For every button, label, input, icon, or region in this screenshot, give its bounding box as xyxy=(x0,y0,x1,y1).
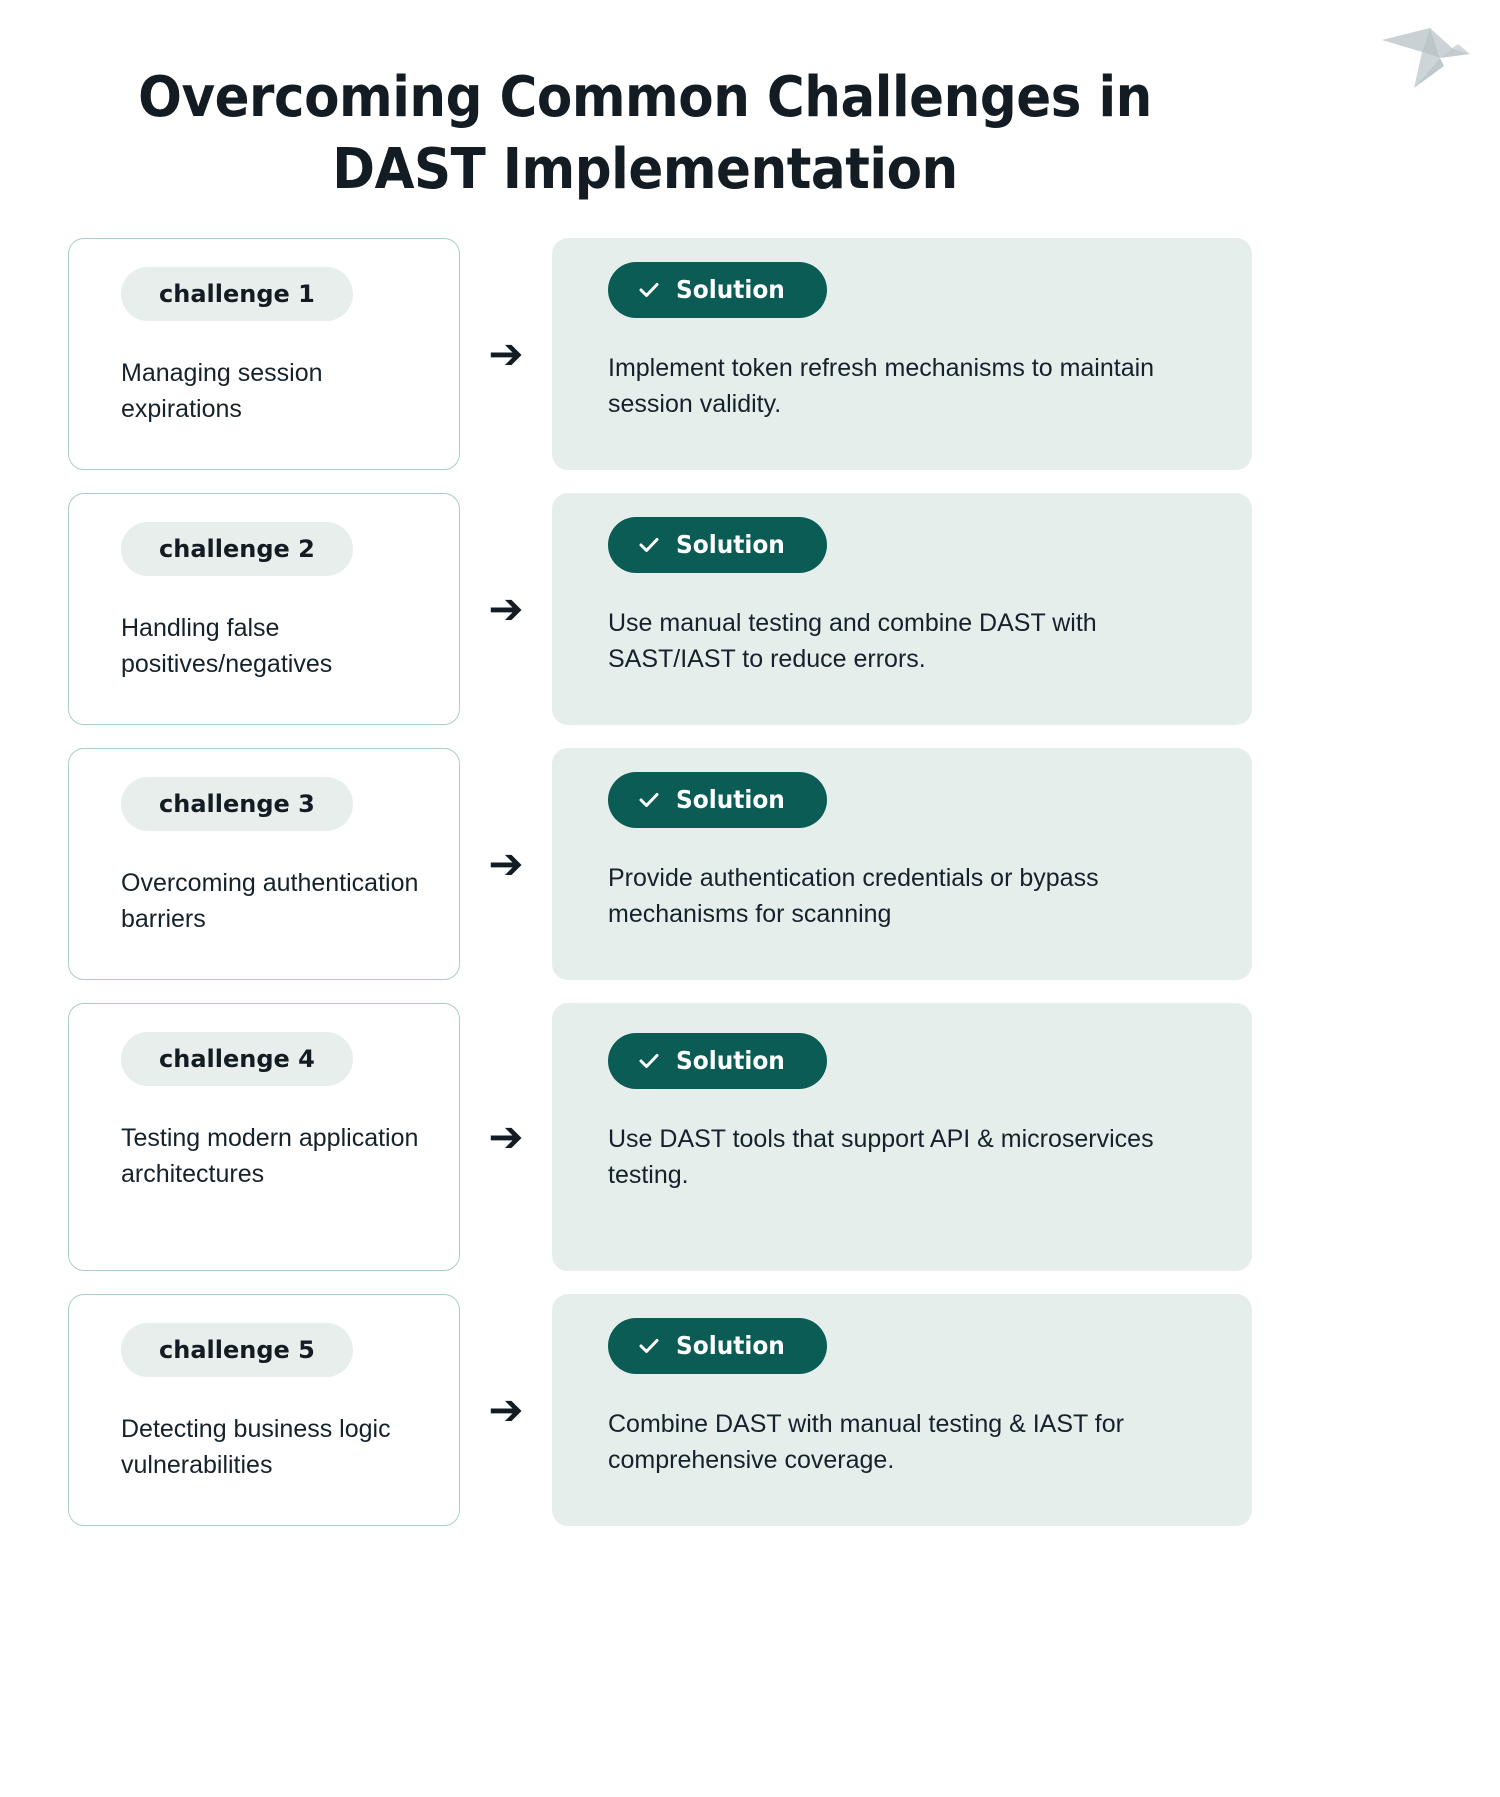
challenge-solution-list: challenge 1 Managing session expirations… xyxy=(0,238,1500,1549)
right-arrow-icon: ➔ xyxy=(488,333,523,375)
solution-badge-label-4: Solution xyxy=(676,1047,785,1075)
origami-bird-logo xyxy=(1378,18,1474,92)
challenge-solution-row: challenge 4 Testing modern application a… xyxy=(0,1003,1500,1271)
challenge-badge-4: challenge 4 xyxy=(121,1032,353,1086)
challenge-solution-row: challenge 2 Handling false positives/neg… xyxy=(0,493,1500,725)
check-icon xyxy=(638,1050,660,1072)
infographic-page: Overcoming Common Challenges in DAST Imp… xyxy=(0,0,1500,1797)
check-icon xyxy=(638,279,660,301)
challenge-card-4: challenge 4 Testing modern application a… xyxy=(68,1003,460,1271)
solution-badge-2: Solution xyxy=(608,517,827,573)
solution-badge-3: Solution xyxy=(608,772,827,828)
arrow-column-2: ➔ xyxy=(460,493,552,725)
solution-badge-label-2: Solution xyxy=(676,531,785,559)
solution-badge-4: Solution xyxy=(608,1033,827,1089)
solution-text-1: Implement token refresh mechanisms to ma… xyxy=(608,350,1204,422)
solution-badge-1: Solution xyxy=(608,262,827,318)
challenge-card-5: challenge 5 Detecting business logic vul… xyxy=(68,1294,460,1526)
solution-badge-label-1: Solution xyxy=(676,276,785,304)
challenge-card-2: challenge 2 Handling false positives/neg… xyxy=(68,493,460,725)
challenge-text-2: Handling false positives/negatives xyxy=(121,610,419,682)
challenge-text-4: Testing modern application architectures xyxy=(121,1120,419,1192)
solution-text-3: Provide authentication credentials or by… xyxy=(608,860,1204,932)
challenge-badge-2: challenge 2 xyxy=(121,522,353,576)
solution-badge-5: Solution xyxy=(608,1318,827,1374)
check-icon xyxy=(638,789,660,811)
arrow-column-1: ➔ xyxy=(460,238,552,470)
solution-card-2: Solution Use manual testing and combine … xyxy=(552,493,1252,725)
page-title-line-1: Overcoming Common Challenges in xyxy=(52,62,1239,134)
challenge-text-5: Detecting business logic vulnerabilities xyxy=(121,1411,419,1483)
right-arrow-icon: ➔ xyxy=(488,1116,523,1158)
challenge-card-3: challenge 3 Overcoming authentication ba… xyxy=(68,748,460,980)
solution-badge-label-5: Solution xyxy=(676,1332,785,1360)
solution-text-2: Use manual testing and combine DAST with… xyxy=(608,605,1204,677)
solution-card-5: Solution Combine DAST with manual testin… xyxy=(552,1294,1252,1526)
challenge-text-1: Managing session expirations xyxy=(121,355,419,427)
right-arrow-icon: ➔ xyxy=(488,1389,523,1431)
challenge-text-3: Overcoming authentication barriers xyxy=(121,865,419,937)
solution-card-1: Solution Implement token refresh mechani… xyxy=(552,238,1252,470)
check-icon xyxy=(638,1335,660,1357)
arrow-column-3: ➔ xyxy=(460,748,552,980)
page-title: Overcoming Common Challenges in DAST Imp… xyxy=(0,62,1290,206)
challenge-solution-row: challenge 3 Overcoming authentication ba… xyxy=(0,748,1500,980)
solution-card-3: Solution Provide authentication credenti… xyxy=(552,748,1252,980)
solution-text-4: Use DAST tools that support API & micros… xyxy=(608,1121,1204,1193)
arrow-column-4: ➔ xyxy=(460,1003,552,1271)
challenge-badge-5: challenge 5 xyxy=(121,1323,353,1377)
solution-card-4: Solution Use DAST tools that support API… xyxy=(552,1003,1252,1271)
arrow-column-5: ➔ xyxy=(460,1294,552,1526)
challenge-badge-1: challenge 1 xyxy=(121,267,353,321)
solution-text-5: Combine DAST with manual testing & IAST … xyxy=(608,1406,1204,1478)
challenge-card-1: challenge 1 Managing session expirations xyxy=(68,238,460,470)
page-title-line-2: DAST Implementation xyxy=(52,134,1239,206)
challenge-solution-row: challenge 1 Managing session expirations… xyxy=(0,238,1500,470)
right-arrow-icon: ➔ xyxy=(488,588,523,630)
right-arrow-icon: ➔ xyxy=(488,843,523,885)
check-icon xyxy=(638,534,660,556)
challenge-solution-row: challenge 5 Detecting business logic vul… xyxy=(0,1294,1500,1526)
solution-badge-label-3: Solution xyxy=(676,786,785,814)
challenge-badge-3: challenge 3 xyxy=(121,777,353,831)
